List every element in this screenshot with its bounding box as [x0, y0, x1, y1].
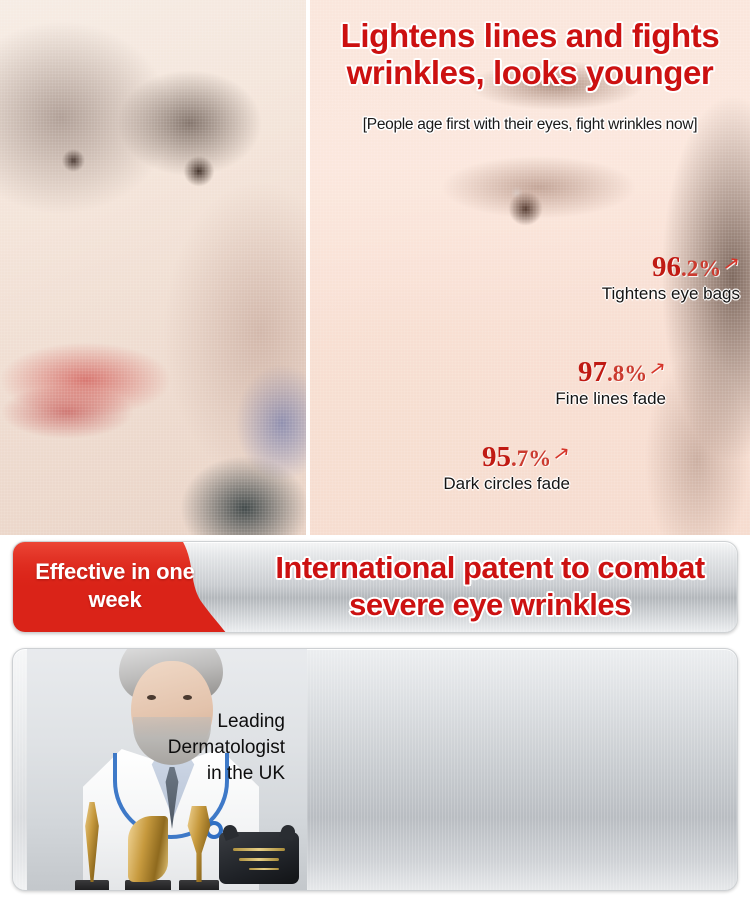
stat-value: 97.8%↗: [555, 358, 666, 387]
stat-caption: Fine lines fade: [555, 389, 666, 409]
trophy-icon: [75, 800, 109, 891]
award-plaque-icon: [219, 832, 299, 884]
certification-panel: Safe choice, internationally recognized …: [12, 648, 738, 891]
effective-tag: Effective in one week: [13, 542, 243, 633]
stat-value: 96.2%↗: [602, 253, 740, 282]
stat-integer: 95: [482, 441, 511, 473]
stat-integer: 96: [652, 251, 681, 283]
trophy-icon: [125, 814, 171, 891]
effective-tag-label: Effective in one week: [25, 558, 205, 614]
rising-arrow-icon: ↗: [648, 357, 667, 379]
stat-decimal: .2%: [681, 256, 721, 281]
patent-banner: Effective in one week International pate…: [12, 541, 738, 633]
rising-arrow-icon: ↗: [552, 442, 571, 464]
rising-arrow-icon: ↗: [722, 252, 741, 274]
trophy-icon: [179, 804, 219, 891]
woman-face-photo: [0, 0, 306, 535]
stat-decimal: .7%: [511, 446, 551, 471]
stat-decimal: .8%: [607, 361, 647, 386]
dermatologist-label: Leading Dermatologist in the UK: [155, 709, 285, 788]
stat-caption: Tightens eye bags: [602, 284, 740, 304]
stat-item: 96.2%↗ Tightens eye bags: [602, 253, 740, 304]
stat-item: 97.8%↗ Fine lines fade: [555, 358, 666, 409]
page-title: Lightens lines and fights wrinkles, look…: [312, 18, 748, 92]
banner-title: International patent to combat severe ey…: [241, 550, 738, 623]
stat-caption: Dark circles fade: [443, 474, 570, 494]
hero-subtitle: [People age first with their eyes, fight…: [312, 116, 748, 134]
stat-value: 95.7%↗: [443, 443, 570, 472]
stat-integer: 97: [578, 356, 607, 388]
hero-photo-band: Lightens lines and fights wrinkles, look…: [0, 0, 750, 535]
stat-item: 95.7%↗ Dark circles fade: [443, 443, 570, 494]
